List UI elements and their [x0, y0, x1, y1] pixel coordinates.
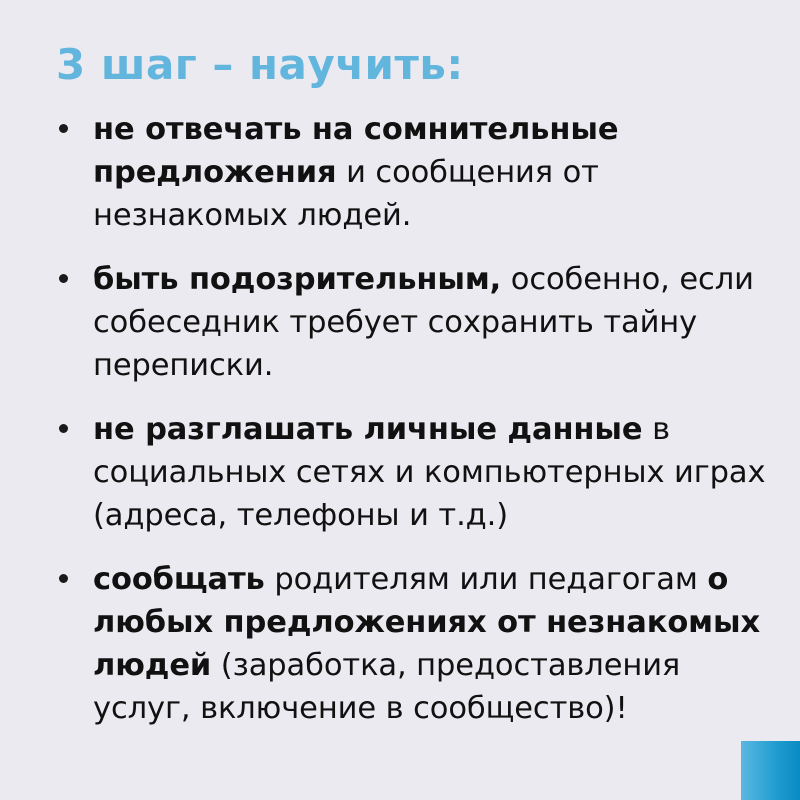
bullet-dot-icon	[59, 124, 68, 133]
page-title: 3 шаг – научить:	[56, 42, 464, 88]
bullet-bold-lead: быть подозрительным,	[93, 262, 501, 297]
bullet-list: не отвечать на сомнительные предложения …	[50, 108, 770, 730]
bullet-bold-lead: не разглашать личные данные	[93, 412, 642, 447]
list-item: не разглашать личные данные в социальных…	[50, 408, 770, 537]
bullet-mid: родителям или педагогам	[265, 562, 708, 597]
bullet-text-no-personal-data: не разглашать личные данные в социальных…	[93, 408, 770, 537]
list-item: не отвечать на сомнительные предложения …	[50, 108, 770, 237]
corner-accent-square	[741, 741, 800, 800]
slide-canvas: 3 шаг – научить: не отвечать на сомнител…	[0, 0, 800, 800]
bullet-text-tell-parents: сообщать родителям или педагогам о любых…	[93, 558, 770, 730]
bullet-dot-icon	[59, 424, 68, 433]
list-item: сообщать родителям или педагогам о любых…	[50, 558, 770, 730]
bullet-dot-icon	[59, 274, 68, 283]
bullet-text-be-suspicious: быть подозрительным, особенно, если собе…	[93, 258, 770, 387]
bullet-text-no-reply: не отвечать на сомнительные предложения …	[93, 108, 770, 237]
bullet-dot-icon	[59, 574, 68, 583]
list-item: быть подозрительным, особенно, если собе…	[50, 258, 770, 387]
bullet-bold-lead: сообщать	[93, 562, 265, 597]
